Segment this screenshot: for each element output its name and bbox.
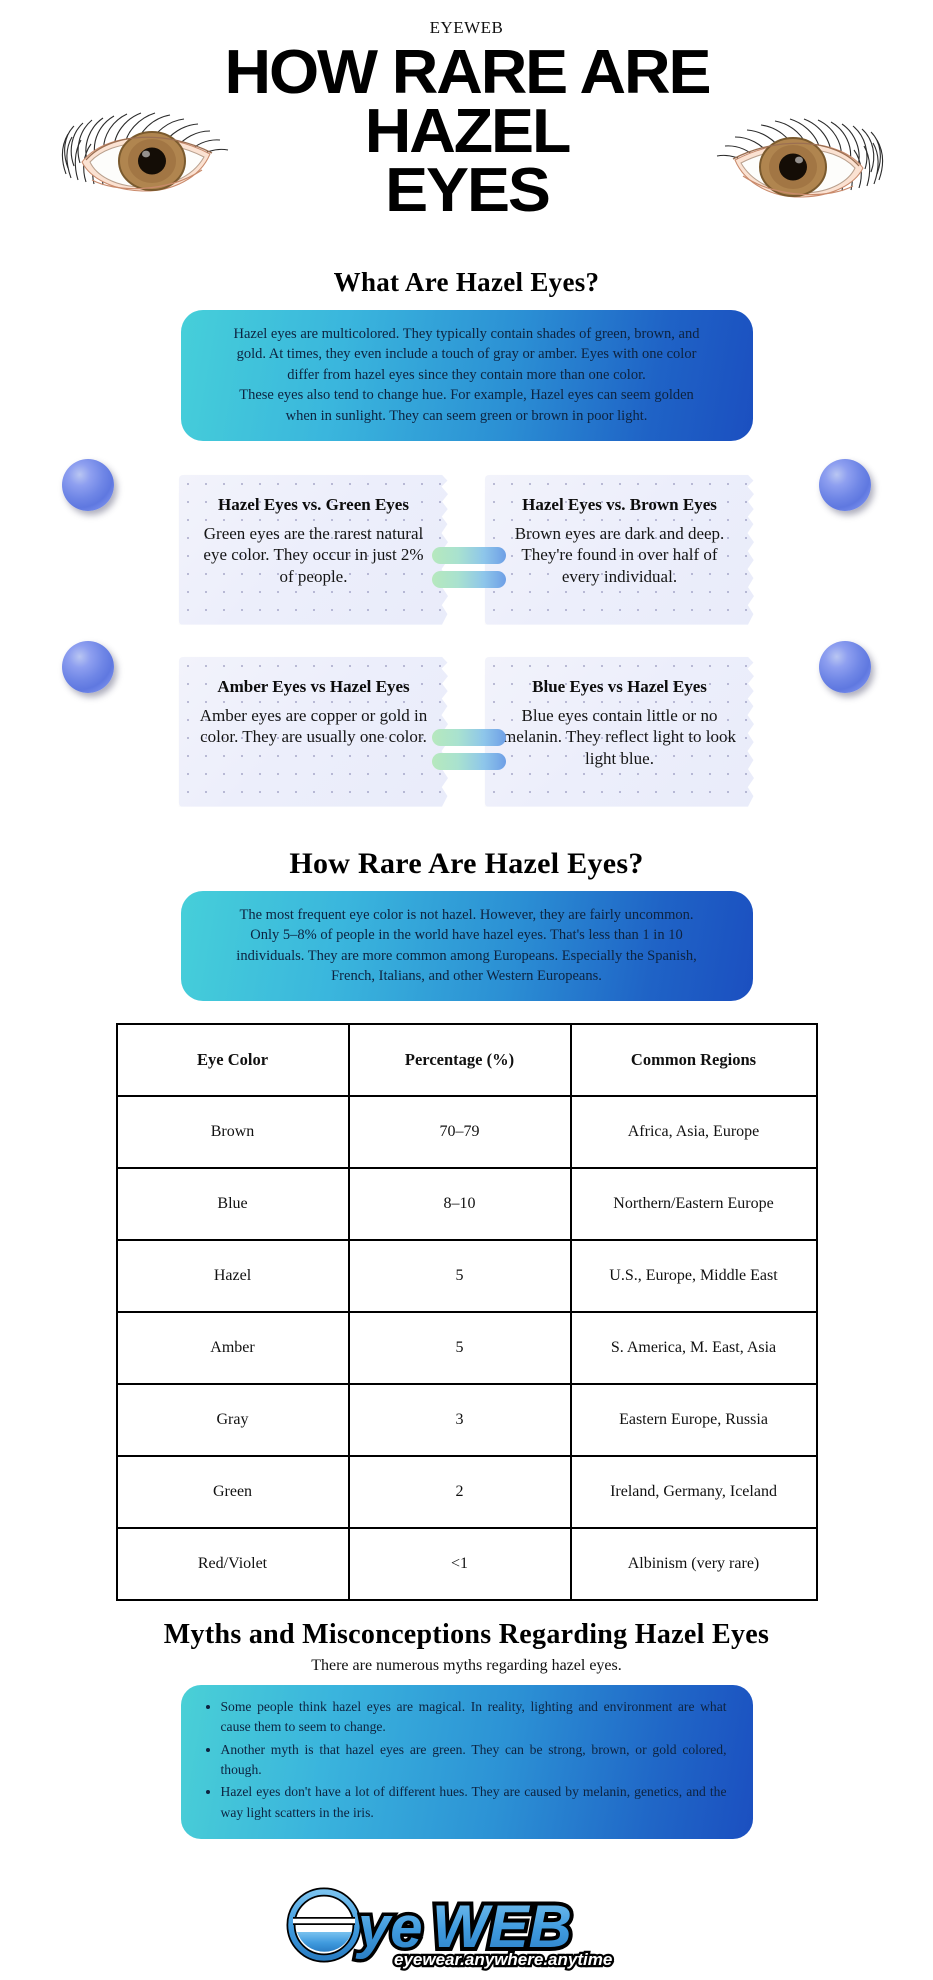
compare-card-hazel-vs-green[interactable]: Hazel Eyes vs. Green Eyes Green eyes are… [179,475,449,625]
page-title-line2: EYES [144,162,789,221]
table-cell-regions: Albinism (very rare) [571,1528,817,1600]
table-cell-percentage: 5 [349,1240,571,1312]
compare-card-title: Amber Eyes vs Hazel Eyes [195,677,433,697]
table-header-cell: Eye Color [117,1024,349,1096]
compare-card-text: Brown eyes are dark and deep. They're fo… [501,523,739,588]
table-cell-percentage: 70–79 [349,1096,571,1168]
intro-line-4: These eyes also tend to change hue. For … [207,385,727,406]
how-rare-panel: The most frequent eye color is not hazel… [181,891,753,1001]
eye-color-table: Eye Color Percentage (%) Common Regions … [116,1023,818,1601]
how-rare-line-2: Only 5–8% of people in the world have ha… [207,925,727,946]
decorative-sphere-2 [819,459,871,511]
section-heading-myths: Myths and Misconceptions Regarding Hazel… [0,1619,933,1651]
card-connector-1 [432,547,506,588]
table-cell-percentage: 3 [349,1384,571,1456]
compare-cards-row-2: Amber Eyes vs Hazel Eyes Amber eyes are … [0,657,933,807]
compare-card-title: Hazel Eyes vs. Brown Eyes [501,495,739,515]
compare-card-hazel-vs-brown[interactable]: Hazel Eyes vs. Brown Eyes Brown eyes are… [485,475,755,625]
myths-panel: Some people think hazel eyes are magical… [181,1685,753,1839]
table-cell-eye-color: Brown [117,1096,349,1168]
footer: ye ye WEB WEB eyewear.anywhere.anytime e… [0,1884,933,1980]
table-cell-eye-color: Amber [117,1312,349,1384]
brand-kicker: EYEWEB [0,0,933,38]
myths-list: Some people think hazel eyes are magical… [199,1697,727,1823]
table-cell-regions: Eastern Europe, Russia [571,1384,817,1456]
table-cell-eye-color: Green [117,1456,349,1528]
compare-card-text: Green eyes are the rarest natural eye co… [195,523,433,588]
table-header-cell: Common Regions [571,1024,817,1096]
eye-illustration-right [705,98,885,213]
eyeweb-logo[interactable]: ye ye WEB WEB eyewear.anywhere.anytime e… [272,1885,662,1976]
section-heading-what-are-hazel-eyes: What Are Hazel Eyes? [0,267,933,298]
compare-card-title: Hazel Eyes vs. Green Eyes [195,495,433,515]
table-cell-eye-color: Blue [117,1168,349,1240]
table-cell-eye-color: Hazel [117,1240,349,1312]
connector-bar [432,753,506,770]
table-header-cell: Percentage (%) [349,1024,571,1096]
decorative-sphere-4 [819,641,871,693]
table-cell-percentage: 8–10 [349,1168,571,1240]
table-cell-regions: U.S., Europe, Middle East [571,1240,817,1312]
connector-bar [432,571,506,588]
table-cell-eye-color: Red/Violet [117,1528,349,1600]
compare-card-title: Blue Eyes vs Hazel Eyes [501,677,739,697]
table-cell-regions: S. America, M. East, Asia [571,1312,817,1384]
page-title-line1: HOW RARE ARE HAZEL [144,44,789,162]
eye-illustration-left [60,92,240,207]
how-rare-line-1: The most frequent eye color is not hazel… [207,905,727,926]
myths-subheading: There are numerous myths regarding hazel… [0,1657,933,1675]
decorative-sphere-1 [62,459,114,511]
table-cell-regions: Ireland, Germany, Iceland [571,1456,817,1528]
table-cell-regions: Northern/Eastern Europe [571,1168,817,1240]
compare-card-text: Amber eyes are copper or gold in color. … [195,705,433,749]
table-row: Amber 5 S. America, M. East, Asia [117,1312,817,1384]
svg-text:eyewear.anywhere.anytime: eyewear.anywhere.anytime [394,1950,612,1969]
intro-panel: Hazel eyes are multicolored. They typica… [181,310,753,441]
myth-list-item: Hazel eyes don't have a lot of different… [221,1782,727,1823]
table-cell-eye-color: Gray [117,1384,349,1456]
decorative-sphere-3 [62,641,114,693]
how-rare-line-3: individuals. They are more common among … [207,946,727,967]
table-row: Green 2 Ireland, Germany, Iceland [117,1456,817,1528]
table-row: Red/Violet <1 Albinism (very rare) [117,1528,817,1600]
card-connector-2 [432,729,506,770]
page-title: HOW RARE ARE HAZEL EYES [144,44,789,221]
section-heading-how-rare: How Rare Are Hazel Eyes? [0,847,933,881]
myth-list-item: Some people think hazel eyes are magical… [221,1697,727,1738]
compare-card-blue-vs-hazel[interactable]: Blue Eyes vs Hazel Eyes Blue eyes contai… [485,657,755,807]
compare-cards-row-1: Hazel Eyes vs. Green Eyes Green eyes are… [0,475,933,625]
connector-bar [432,547,506,564]
intro-line-3: differ from hazel eyes since they contai… [207,365,727,386]
table-row: Hazel 5 U.S., Europe, Middle East [117,1240,817,1312]
table-row: Blue 8–10 Northern/Eastern Europe [117,1168,817,1240]
connector-bar [432,729,506,746]
table-cell-regions: Africa, Asia, Europe [571,1096,817,1168]
infographic-page: EYEWEB HOW RARE ARE HAZEL EYES [0,0,933,1980]
table-cell-percentage: 2 [349,1456,571,1528]
intro-line-5: when in sunlight. They can seem green or… [207,406,727,427]
how-rare-line-4: French, Italians, and other Western Euro… [207,966,727,987]
table-cell-percentage: 5 [349,1312,571,1384]
table-cell-percentage: <1 [349,1528,571,1600]
table-row: Gray 3 Eastern Europe, Russia [117,1384,817,1456]
table-header-row: Eye Color Percentage (%) Common Regions [117,1024,817,1096]
compare-card-amber-vs-hazel[interactable]: Amber Eyes vs Hazel Eyes Amber eyes are … [179,657,449,807]
intro-line-1: Hazel eyes are multicolored. They typica… [207,324,727,345]
myth-list-item: Another myth is that hazel eyes are gree… [221,1740,727,1781]
compare-card-text: Blue eyes contain little or no melanin. … [501,705,739,770]
table-row: Brown 70–79 Africa, Asia, Europe [117,1096,817,1168]
intro-line-2: gold. At times, they even include a touc… [207,344,727,365]
